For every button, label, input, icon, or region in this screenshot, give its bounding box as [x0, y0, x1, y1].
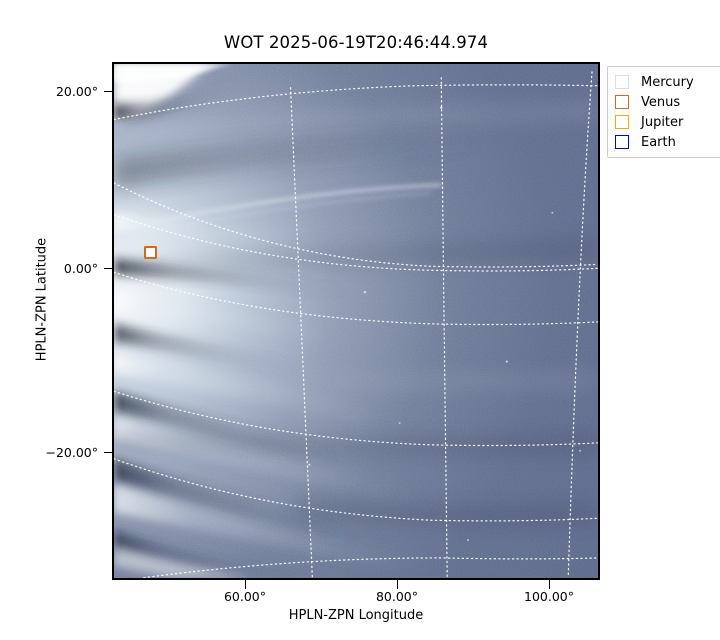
x-ticklabel-100: 100.00° — [524, 589, 574, 604]
legend-swatch-earth — [615, 135, 629, 149]
figure-canvas: WOT 2025-06-19T20:46:44.974 — [0, 0, 720, 640]
plot-axes[interactable] — [112, 62, 600, 580]
heliospheric-image-base — [114, 64, 598, 578]
legend-label-venus: Venus — [641, 95, 680, 110]
x-tick-100 — [549, 580, 550, 589]
y-ticklabel-neg20: −20.00° — [45, 445, 98, 460]
streamer-rays-layer — [114, 64, 598, 578]
legend-item-venus[interactable]: Venus — [615, 92, 720, 112]
legend-label-mercury: Mercury — [641, 75, 694, 90]
legend-item-mercury[interactable]: Mercury — [615, 72, 720, 92]
legend-label-jupiter: Jupiter — [641, 115, 683, 130]
planet-marker-venus[interactable] — [144, 246, 157, 259]
y-tick-neg20 — [104, 452, 113, 453]
y-axis-label: HPLN-ZPN Latitude — [35, 200, 50, 400]
legend-swatch-mercury — [615, 75, 629, 89]
page-title: WOT 2025-06-19T20:46:44.974 — [112, 33, 600, 52]
x-ticklabel-80: 80.00° — [376, 589, 418, 604]
legend-item-jupiter[interactable]: Jupiter — [615, 112, 720, 132]
x-axis-label: HPLN-ZPN Longitude — [112, 608, 600, 623]
y-tick-20 — [104, 91, 113, 92]
legend[interactable]: Mercury Venus Jupiter Earth — [607, 66, 720, 158]
x-tick-60 — [245, 580, 246, 589]
image-noise-layer — [114, 64, 598, 578]
y-ticklabel-0: 0.00° — [64, 261, 98, 276]
x-ticklabel-60: 60.00° — [224, 589, 266, 604]
y-tick-0 — [104, 268, 113, 269]
legend-item-earth[interactable]: Earth — [615, 132, 720, 152]
legend-swatch-jupiter — [615, 115, 629, 129]
legend-swatch-venus — [615, 95, 629, 109]
wcs-graticule — [114, 64, 598, 578]
legend-label-earth: Earth — [641, 135, 676, 150]
y-ticklabel-20: 20.00° — [56, 84, 98, 99]
x-tick-80 — [397, 580, 398, 589]
